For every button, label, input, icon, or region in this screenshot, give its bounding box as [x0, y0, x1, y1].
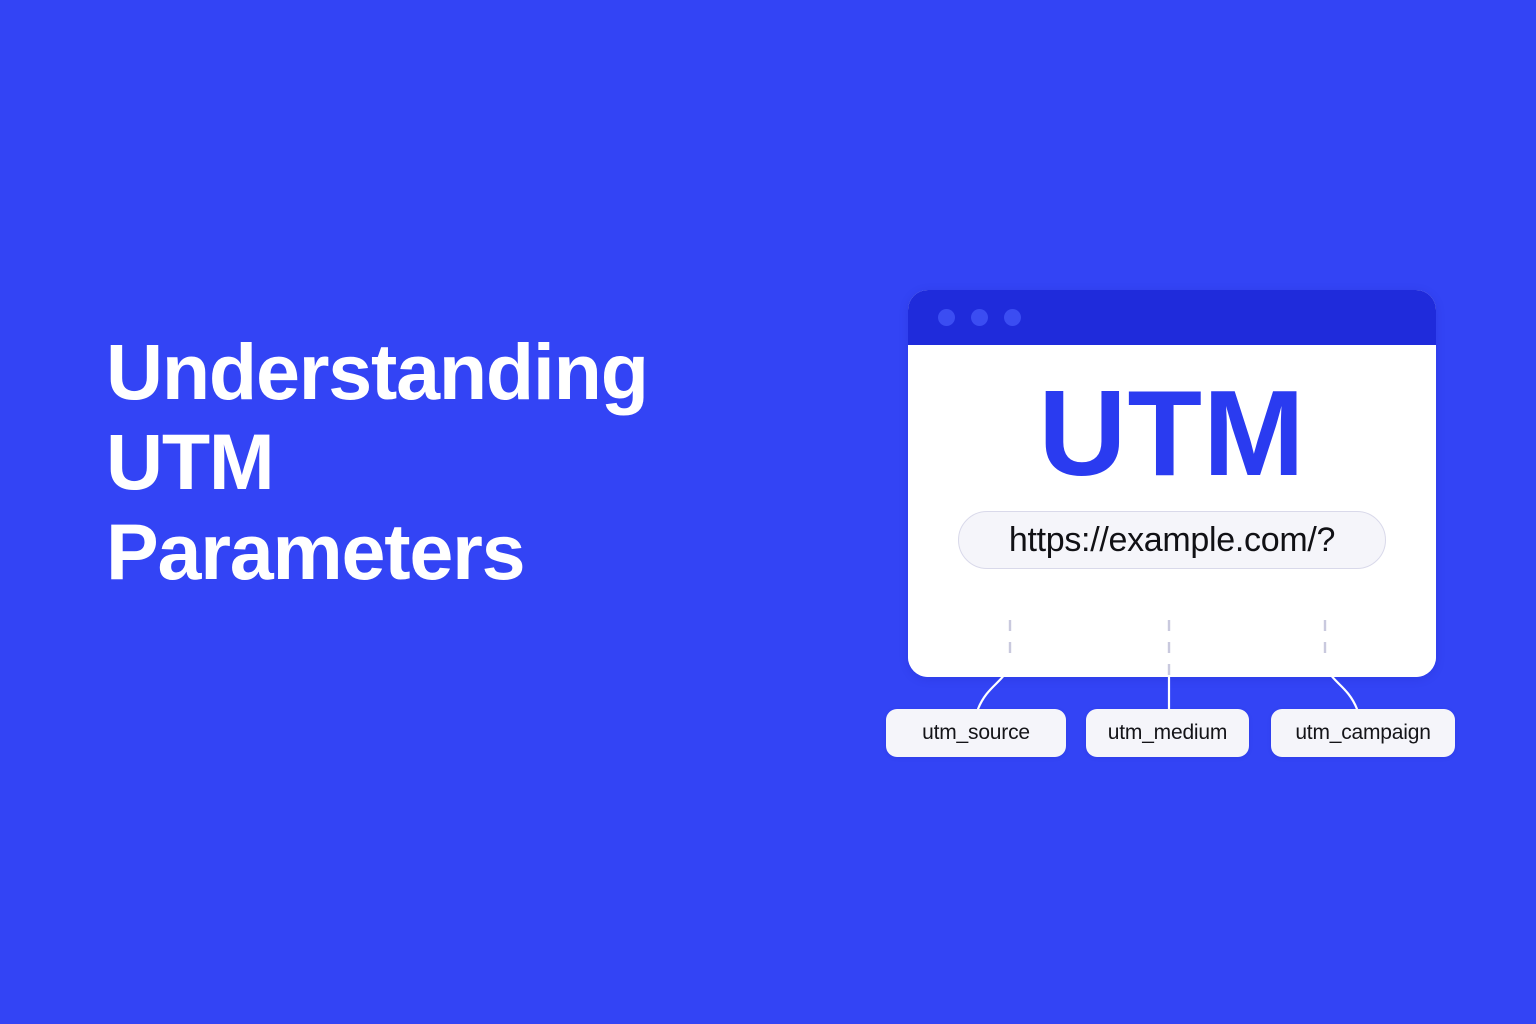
browser-titlebar	[908, 290, 1436, 345]
utm-wordmark: UTM	[1038, 369, 1305, 497]
utm-parameter-tag-campaign[interactable]: utm_campaign	[1271, 709, 1455, 757]
utm-parameter-tag-medium[interactable]: utm_medium	[1086, 709, 1249, 757]
browser-window-mockup: UTM https://example.com/?	[908, 290, 1436, 677]
page-title: Understanding UTM Parameters	[106, 327, 866, 597]
url-input[interactable]: https://example.com/?	[958, 511, 1386, 569]
window-dot-minimize-icon	[971, 309, 988, 326]
window-dot-maximize-icon	[1004, 309, 1021, 326]
window-dot-close-icon	[938, 309, 955, 326]
browser-viewport: UTM https://example.com/?	[908, 345, 1436, 677]
utm-parameter-tag-list: utm_source utm_medium utm_campaign	[886, 709, 1456, 757]
utm-parameter-tag-source[interactable]: utm_source	[886, 709, 1066, 757]
